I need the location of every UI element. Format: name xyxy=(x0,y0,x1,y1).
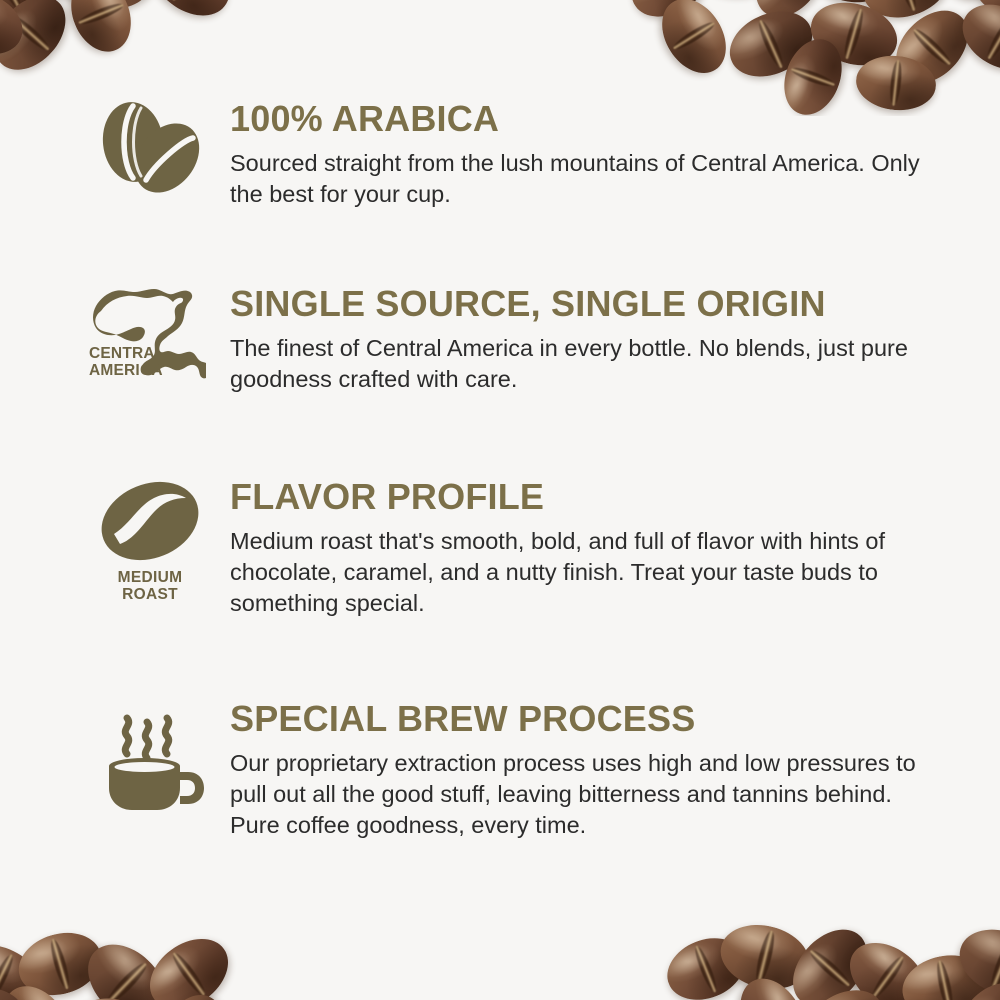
feature-row-brew-process: SPECIAL BREW PROCESS Our proprietary ext… xyxy=(70,700,940,842)
feature-icon-cell: CENTRAL AMERICA xyxy=(70,285,230,381)
coffee-beans-decoration-top-left xyxy=(0,0,300,112)
map-icon-wrap: CENTRAL AMERICA xyxy=(87,285,213,381)
feature-text-cell: SPECIAL BREW PROCESS Our proprietary ext… xyxy=(230,700,940,842)
bean-icon-caption: MEDIUM ROAST xyxy=(118,569,183,604)
feature-icon-cell xyxy=(70,100,230,196)
coffee-beans-decoration-bottom-left xyxy=(0,900,296,1000)
feature-row-single-origin: CENTRAL AMERICA SINGLE SOURCE, SINGLE OR… xyxy=(70,285,940,395)
feature-icon-cell xyxy=(70,700,230,818)
feature-text-cell: SINGLE SOURCE, SINGLE ORIGIN The finest … xyxy=(230,285,940,395)
feature-title: FLAVOR PROFILE xyxy=(230,478,940,516)
feature-description: Medium roast that's smooth, bold, and fu… xyxy=(230,526,920,620)
coffee-beans-decoration-bottom-right xyxy=(640,898,1000,1000)
feature-title: SINGLE SOURCE, SINGLE ORIGIN xyxy=(230,285,940,323)
bean-caption-line-2: ROAST xyxy=(118,586,183,603)
feature-text-cell: 100% ARABICA Sourced straight from the l… xyxy=(230,100,940,210)
map-icon-caption: CENTRAL AMERICA xyxy=(89,345,164,379)
feature-description: Our proprietary extraction process uses … xyxy=(230,748,920,842)
feature-title: 100% ARABICA xyxy=(230,100,940,138)
roasted-coffee-bean-icon xyxy=(94,478,206,564)
feature-icon-cell: MEDIUM ROAST xyxy=(70,478,230,604)
feature-row-flavor-profile: MEDIUM ROAST FLAVOR PROFILE Medium roast… xyxy=(70,478,940,620)
steaming-coffee-cup-icon xyxy=(91,700,209,818)
bean-caption-line-1: MEDIUM xyxy=(118,569,183,586)
coffee-beans-decoration-top-right xyxy=(624,0,1000,116)
infographic-page: 100% ARABICA Sourced straight from the l… xyxy=(0,0,1000,1000)
map-caption-line-1: CENTRAL xyxy=(89,345,164,362)
feature-description: The finest of Central America in every b… xyxy=(230,333,920,396)
two-coffee-beans-icon xyxy=(91,100,209,196)
feature-description: Sourced straight from the lush mountains… xyxy=(230,148,920,211)
feature-row-arabica: 100% ARABICA Sourced straight from the l… xyxy=(70,100,940,210)
feature-title: SPECIAL BREW PROCESS xyxy=(230,700,940,738)
map-caption-line-2: AMERICA xyxy=(89,362,164,379)
feature-text-cell: FLAVOR PROFILE Medium roast that's smoot… xyxy=(230,478,940,620)
